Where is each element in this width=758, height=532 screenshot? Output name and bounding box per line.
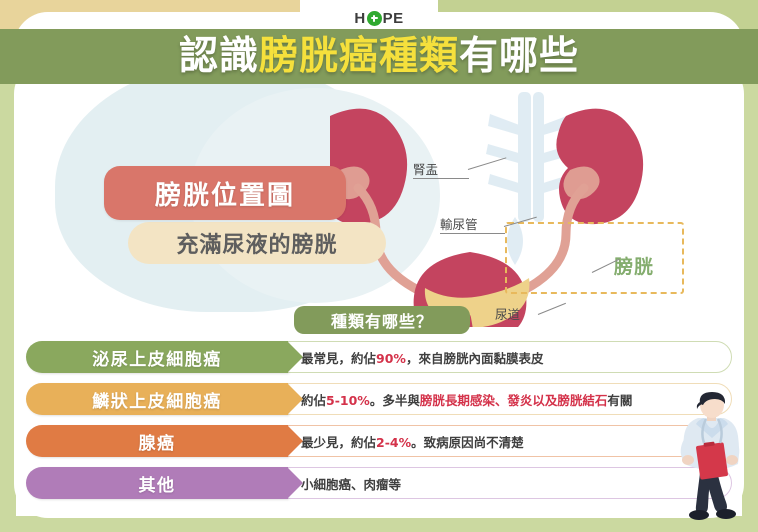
desc-post: 。致病原因尚不清楚 [411, 435, 524, 450]
logo-text-right: PE [383, 11, 404, 26]
logo-text-left: H [354, 11, 365, 26]
infographic-canvas: H PE 認識膀胱癌種類有哪些 [0, 0, 758, 532]
desc-emphasis: 90% [376, 351, 406, 366]
desc-emphasis-2: 膀胱長期感染、發炎以及膀胱結石 [420, 393, 608, 408]
hope-logo: H PE [0, 9, 758, 27]
bladder-callout-label: 膀胱 [614, 252, 654, 279]
desc-pre: 最少見，約佔 [301, 435, 376, 450]
type-tag-label: 腺癌 [139, 429, 176, 454]
desc-emphasis: 2-4% [376, 435, 411, 450]
cancer-type-list: 最常見，約佔90%，來自膀胱內面黏膜表皮 泌尿上皮細胞癌 約佔5-10%。多半與… [26, 341, 732, 509]
type-description-text: 最常見，約佔90%，來自膀胱內面黏膜表皮 [301, 348, 543, 367]
type-description-text: 最少見，約佔2-4%。致病原因尚不清楚 [301, 432, 524, 451]
type-tag[interactable]: 鱗狀上皮細胞癌 [26, 383, 288, 415]
desc-post-2: 有關 [607, 393, 632, 408]
frame-edge-bottom [0, 516, 758, 532]
type-description: 小細胞癌、肉瘤等 [264, 467, 732, 499]
section-heading-types: 種類有哪些？ [294, 306, 470, 334]
title-band: 認識膀胱癌種類有哪些 [0, 29, 758, 84]
section-heading-label: 種類有哪些？ [331, 308, 433, 332]
badge-bladder-full-urine: 充滿尿液的膀胱 [128, 222, 386, 264]
green-circle-cross-icon [367, 11, 382, 26]
desc-pre: 約佔 [301, 393, 326, 408]
title-part-2: 有哪些 [459, 34, 579, 79]
title-highlight: 膀胱癌種類 [259, 34, 459, 79]
list-item[interactable]: 最常見，約佔90%，來自膀胱內面黏膜表皮 泌尿上皮細胞癌 [26, 341, 732, 373]
leader-line-ureter [440, 233, 505, 234]
desc-post: ，來自膀胱內面黏膜表皮 [406, 351, 544, 366]
list-item[interactable]: 約佔5-10%。多半與膀胱長期感染、發炎以及膀胱結石有關 鱗狀上皮細胞癌 [26, 383, 732, 415]
type-description: 約佔5-10%。多半與膀胱長期感染、發炎以及膀胱結石有關 [264, 383, 732, 415]
type-tag-label: 其他 [139, 471, 176, 496]
leader-line-renal-pelvis [413, 178, 469, 179]
label-urethra: 尿道 [495, 304, 520, 323]
doctor-with-clipboard-illustration [668, 392, 754, 522]
label-renal-pelvis: 腎盂 [413, 159, 438, 178]
desc-post: 。多半與 [370, 393, 420, 408]
bladder-highlight-box [505, 222, 684, 294]
type-description-text: 約佔5-10%。多半與膀胱長期感染、發炎以及膀胱結石有關 [301, 390, 632, 409]
label-ureter: 輸尿管 [440, 214, 478, 233]
badge-bladder-full-urine-label: 充滿尿液的膀胱 [176, 227, 337, 259]
desc-pre: 最常見，約佔 [301, 351, 376, 366]
type-tag-label: 鱗狀上皮細胞癌 [92, 387, 222, 412]
page-title: 認識膀胱癌種類有哪些 [179, 37, 579, 76]
type-tag[interactable]: 泌尿上皮細胞癌 [26, 341, 288, 373]
type-description-text: 小細胞癌、肉瘤等 [301, 474, 401, 493]
badge-bladder-location-label: 膀胱位置圖 [155, 175, 295, 212]
desc-emphasis: 5-10% [326, 393, 370, 408]
desc-pre: 小細胞癌、肉瘤等 [301, 477, 401, 492]
type-tag[interactable]: 腺癌 [26, 425, 288, 457]
type-description: 最常見，約佔90%，來自膀胱內面黏膜表皮 [264, 341, 732, 373]
list-item[interactable]: 最少見，約佔2-4%。致病原因尚不清楚 腺癌 [26, 425, 732, 457]
list-item[interactable]: 小細胞癌、肉瘤等 其他 [26, 467, 732, 499]
type-tag[interactable]: 其他 [26, 467, 288, 499]
type-description: 最少見，約佔2-4%。致病原因尚不清楚 [264, 425, 732, 457]
type-tag-label: 泌尿上皮細胞癌 [92, 345, 222, 370]
title-part-1: 認識 [179, 34, 259, 79]
badge-bladder-location: 膀胱位置圖 [104, 166, 346, 220]
